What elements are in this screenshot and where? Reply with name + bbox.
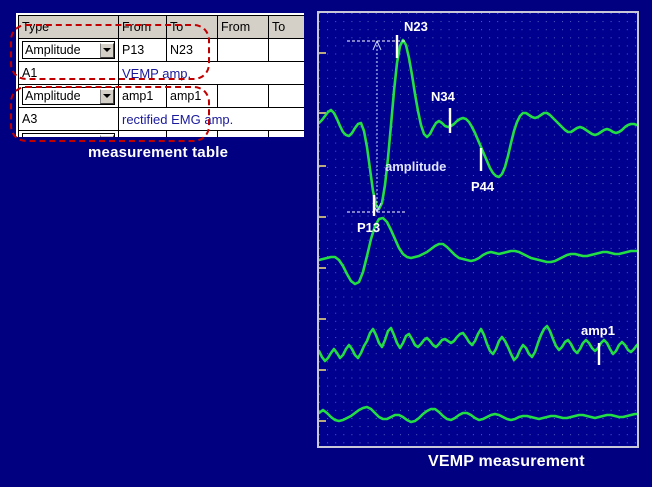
label-n34: N34 (431, 89, 456, 104)
label-p44: P44 (471, 179, 495, 194)
label-amp1: amp1 (581, 323, 615, 338)
label-p13: P13 (357, 220, 380, 235)
to2-cell[interactable] (269, 131, 305, 138)
measurement-table[interactable]: Type From To From To Fr Amplitude P13 N2… (18, 15, 304, 137)
column-header-from-2[interactable]: From (218, 16, 269, 39)
label-n23: N23 (404, 19, 428, 34)
measurement-description-cell[interactable]: rectified EMG amp. (119, 108, 305, 131)
type-combobox-cell[interactable]: Amplitude (19, 85, 119, 108)
chevron-down-icon[interactable] (100, 89, 114, 104)
type-combobox-value: Amplitude (25, 88, 81, 104)
measurement-table-caption: measurement table (88, 144, 228, 161)
vemp-waveform-plot[interactable]: N23 N34 P44 P13 amp1 amplitude (319, 13, 637, 446)
chevron-down-icon[interactable] (100, 135, 114, 138)
type-combobox[interactable]: Amplitude (22, 41, 115, 59)
vemp-chart-panel[interactable]: N23 N34 P44 P13 amp1 amplitude (317, 11, 639, 448)
from-cell[interactable] (119, 131, 167, 138)
column-header-type[interactable]: Type (19, 16, 119, 39)
to-cell[interactable]: N23 (167, 39, 218, 62)
measurement-table-panel: Type From To From To Fr Amplitude P13 N2… (16, 13, 304, 137)
table-row[interactable]: Amplitude amp1 amp1 (19, 85, 305, 108)
label-amplitude: amplitude (385, 159, 446, 174)
to-cell[interactable]: amp1 (167, 85, 218, 108)
from-cell[interactable]: P13 (119, 39, 167, 62)
from2-cell[interactable] (218, 39, 269, 62)
to2-cell[interactable] (269, 85, 305, 108)
table-header-row: Type From To From To Fr (19, 16, 305, 39)
column-header-from-1[interactable]: From (119, 16, 167, 39)
table-row[interactable]: A1 VEMP amp. (19, 62, 305, 85)
type-combobox-cell[interactable]: Amplitude (19, 39, 119, 62)
to2-cell[interactable] (269, 39, 305, 62)
table-row[interactable]: A3 rectified EMG amp. (19, 108, 305, 131)
measurement-description-cell[interactable]: VEMP amp. (119, 62, 305, 85)
vemp-chart-caption: VEMP measurement (428, 453, 585, 471)
type-combobox[interactable] (22, 133, 115, 137)
column-header-to-2[interactable]: To (269, 16, 305, 39)
type-combobox-cell[interactable] (19, 131, 119, 138)
from-cell[interactable]: amp1 (119, 85, 167, 108)
type-combobox-value: Amplitude (25, 42, 81, 58)
from2-cell[interactable] (218, 131, 269, 138)
chevron-down-icon[interactable] (100, 43, 114, 58)
type-combobox[interactable]: Amplitude (22, 87, 115, 105)
column-header-to-1[interactable]: To (167, 16, 218, 39)
measurement-id-cell[interactable]: A3 (19, 108, 119, 131)
table-row-partial[interactable] (19, 131, 305, 138)
from2-cell[interactable] (218, 85, 269, 108)
measurement-id-cell[interactable]: A1 (19, 62, 119, 85)
table-row[interactable]: Amplitude P13 N23 (19, 39, 305, 62)
to-cell[interactable] (167, 131, 218, 138)
